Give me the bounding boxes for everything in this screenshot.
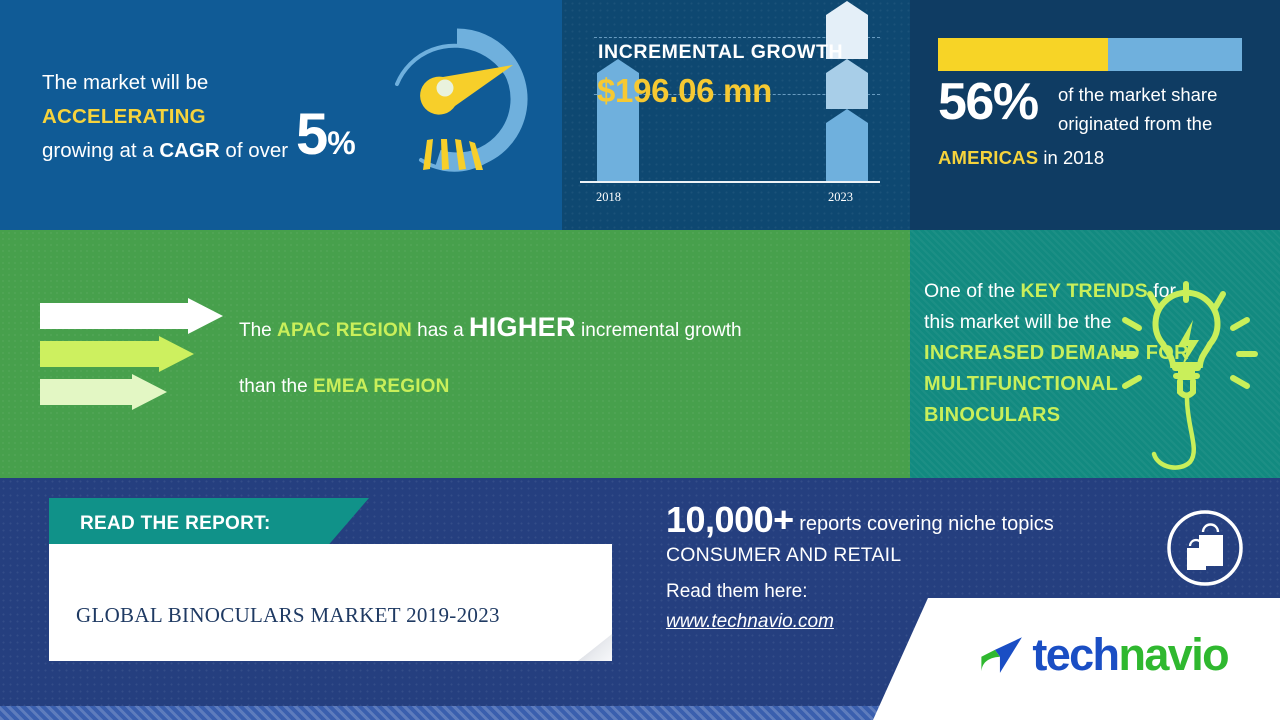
panel-market-share: 56% of the market share originated from … xyxy=(910,0,1280,230)
speedometer-icon xyxy=(383,24,538,206)
panel-incremental-growth: 2018 2023 INCREMENTAL GROWTH $196.06 mn xyxy=(562,0,910,230)
arrow-middle xyxy=(40,341,194,367)
arrow-emea xyxy=(40,379,167,405)
region-arrow-group xyxy=(40,303,230,406)
top-row: The market will be ACCELERATING growing … xyxy=(0,0,1280,230)
cagr-value-group: 5% xyxy=(296,106,355,172)
cagr-line2-pre: growing at a xyxy=(42,139,159,162)
technavio-url-link[interactable]: www.technavio.com xyxy=(666,607,834,637)
growth-value: $196.06 mn xyxy=(597,72,772,110)
bar-2023 xyxy=(826,1,868,181)
cagr-line1-pre: The market will be xyxy=(42,71,208,94)
share-line2: originated from the xyxy=(1058,113,1212,134)
xtick-2018: 2018 xyxy=(596,190,621,205)
market-share-bar xyxy=(938,38,1242,71)
cagr-percent-sign: % xyxy=(327,125,354,161)
share-region-americas: AMERICAS xyxy=(938,147,1038,168)
arrow-emea-head xyxy=(132,374,167,410)
region-emea: EMEA REGION xyxy=(313,376,450,397)
chart-axis xyxy=(580,181,880,183)
bar-2023-tip xyxy=(826,1,868,15)
infographic-root: The market will be ACCELERATING growing … xyxy=(0,0,1280,720)
share-percent: 56% xyxy=(938,76,1038,128)
bar-2023-seg-bottom xyxy=(826,123,868,181)
region-mid2: incremental growth xyxy=(576,320,742,341)
share-line1: of the market share xyxy=(1058,84,1217,105)
region-higher: HIGHER xyxy=(469,312,576,342)
cagr-value: 5 xyxy=(296,102,327,167)
arrow-apac-shaft xyxy=(40,303,188,329)
region-line2: than the EMEA REGION xyxy=(239,373,879,400)
logo-navio: navio xyxy=(1118,629,1228,680)
read-the-report-banner: READ THE REPORT: xyxy=(49,498,369,550)
arrow-emea-shaft xyxy=(40,379,132,405)
read-the-report-label: READ THE REPORT: xyxy=(80,513,271,535)
share-segment-rest xyxy=(1108,38,1242,71)
region-apac: APAC REGION xyxy=(277,320,412,341)
panel-cagr: The market will be ACCELERATING growing … xyxy=(0,0,562,230)
xtick-2023: 2023 xyxy=(828,190,853,205)
region-than-the: than the xyxy=(239,376,313,397)
panel-key-trend: One of the KEY TRENDS for this market wi… xyxy=(910,230,1280,478)
technavio-wordmark: technavio xyxy=(1032,629,1228,681)
region-mid1: has a xyxy=(412,320,469,341)
arrow-middle-shaft xyxy=(40,341,159,367)
middle-row: The APAC REGION has a HIGHER incremental… xyxy=(0,230,1280,478)
reports-count-line: 10,000+ reports covering niche topics xyxy=(666,505,1166,539)
arrow-apac xyxy=(40,303,223,329)
lightbulb-icon xyxy=(1100,268,1275,473)
share-segment-americas xyxy=(938,38,1108,71)
region-pre: The xyxy=(239,320,277,341)
cagr-label: CAGR xyxy=(159,139,219,162)
arrow-middle-head xyxy=(159,336,194,372)
paper-plane-icon xyxy=(978,627,1025,683)
region-statement: The APAC REGION has a HIGHER incremental… xyxy=(239,314,879,400)
report-category: CONSUMER AND RETAIL xyxy=(666,539,1166,572)
trend-line2: this market will be the xyxy=(924,311,1112,333)
cagr-accelerating: ACCELERATING xyxy=(42,105,206,128)
trend-line1-pre: One of the xyxy=(924,280,1020,302)
growth-title: INCREMENTAL GROWTH xyxy=(598,41,843,64)
report-title: GLOBAL BINOCULARS MARKET 2019-2023 xyxy=(76,603,576,628)
share-description: of the market share originated from the xyxy=(1058,80,1278,138)
bar-2023-seg-mid xyxy=(826,73,868,109)
bar-2023-chevron-bottom xyxy=(826,109,868,123)
arrow-apac-head xyxy=(188,298,223,334)
cagr-line2-post: of over xyxy=(220,139,288,162)
share-region-line: AMERICAS in 2018 xyxy=(938,144,1268,171)
logo-tech: tech xyxy=(1032,629,1118,680)
technavio-logo[interactable]: technavio xyxy=(978,624,1228,686)
panel-region-comparison: The APAC REGION has a HIGHER incremental… xyxy=(0,230,910,478)
reports-count-suffix: reports covering niche topics xyxy=(794,513,1054,535)
share-year: in 2018 xyxy=(1038,147,1104,168)
shopping-bags-icon xyxy=(1165,508,1245,588)
reports-count: 10,000+ xyxy=(666,499,794,540)
